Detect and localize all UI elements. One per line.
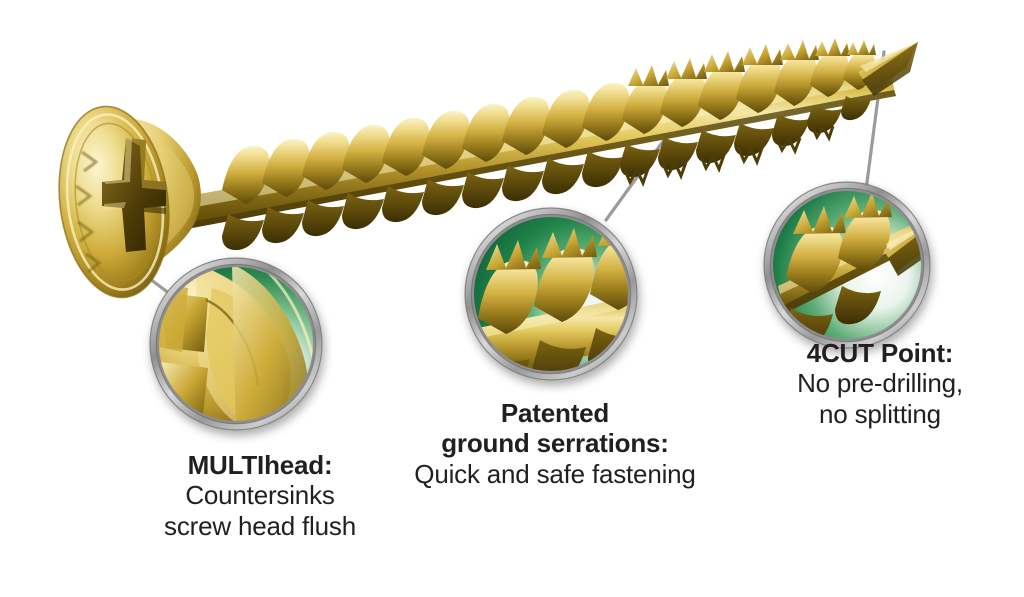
magnifier-point	[764, 182, 946, 350]
screw-head	[49, 100, 201, 304]
magnifier-multihead	[146, 258, 322, 442]
magnifier-serrations	[465, 208, 653, 409]
callout-point-line2: no splitting	[695, 399, 1024, 429]
callout-serrations-title-line2: ground serrations:	[330, 428, 780, 458]
callout-multihead-line2: screw head flush	[80, 511, 440, 541]
callout-point-title: 4CUT Point:	[695, 338, 1024, 368]
callout-serrations-line1: Quick and safe fastening	[330, 459, 780, 489]
callout-point-line1: No pre-drilling,	[695, 368, 1024, 398]
screw-feature-illustration: MULTIhead: Countersinks screw head flush…	[0, 0, 1024, 597]
callout-point: 4CUT Point: No pre-drilling, no splittin…	[695, 338, 1024, 429]
